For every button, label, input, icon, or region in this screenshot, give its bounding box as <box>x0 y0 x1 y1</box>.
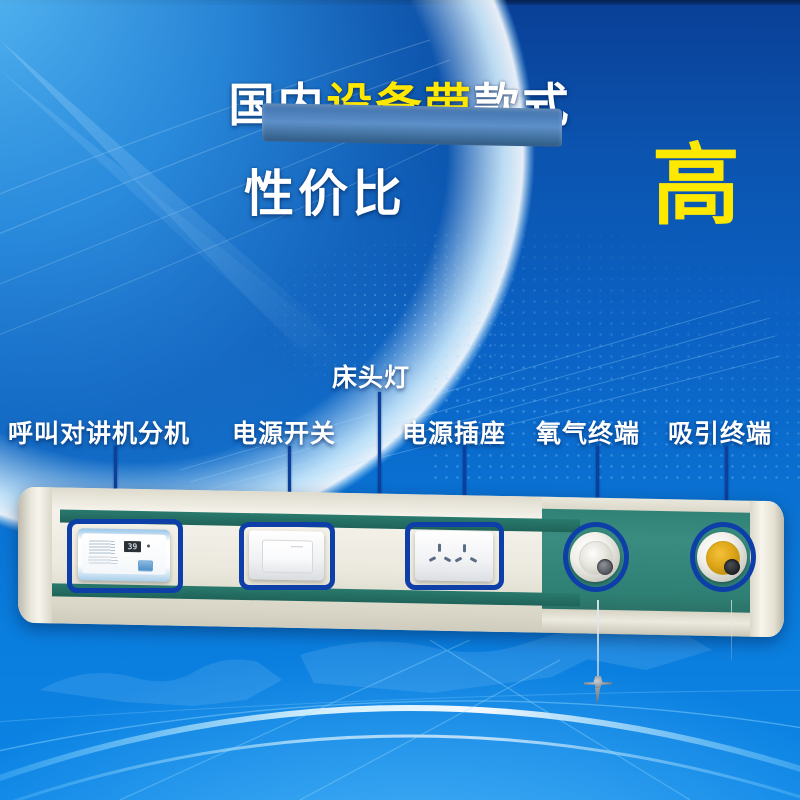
panel-end-cap-left <box>18 487 52 624</box>
rocker-mark-icon <box>291 546 303 547</box>
socket-pin-live-a <box>438 544 441 552</box>
speaker-slots-icon <box>88 556 118 564</box>
intercom-faceplate: 39 <box>82 533 166 575</box>
probe-tip-icon <box>595 688 600 704</box>
headline-emphasis-word: 高 <box>652 142 740 230</box>
socket-pin-angled-1 <box>429 556 437 562</box>
socket-pin-live-b <box>463 544 466 552</box>
oxygen-terminal-ring <box>579 541 613 575</box>
socket-pin-angled-4 <box>470 557 478 563</box>
intercom-display: 39 <box>124 541 141 552</box>
status-led-icon <box>147 544 150 547</box>
promo-banner: 国内设备带款式 性价比 高 呼叫对讲机分机 电源开关 床头灯 电源插座 氧气终端… <box>0 0 800 800</box>
power-socket-plate[interactable] <box>415 530 493 581</box>
intercom-call-button[interactable] <box>138 560 153 571</box>
probe-connector-icon <box>584 676 612 690</box>
callout-label-oxygen-terminal: 氧气终端 <box>536 414 640 450</box>
bed-lamp-light-strip[interactable] <box>262 103 562 147</box>
callout-label-power-switch: 电源开关 <box>232 414 336 450</box>
oxygen-terminal-port-icon <box>597 559 613 575</box>
oxygen-terminal[interactable] <box>570 532 620 582</box>
suction-cable <box>731 600 732 660</box>
panel-teal-bottom-edge <box>542 609 784 638</box>
callout-label-power-socket: 电源插座 <box>402 414 506 450</box>
suction-terminal-port-icon <box>724 559 740 575</box>
power-switch-rocker[interactable] <box>262 540 313 574</box>
suction-terminal[interactable] <box>697 532 747 582</box>
speaker-grille-icon <box>89 540 115 554</box>
socket-pin-angled-3 <box>455 557 463 563</box>
panel-end-cap-right <box>750 501 784 638</box>
power-switch-plate[interactable] <box>249 530 324 580</box>
probe-cable <box>597 600 599 680</box>
callout-label-suction-terminal: 吸引终端 <box>668 414 772 450</box>
suction-terminal-ring <box>706 541 740 575</box>
intercom-unit[interactable]: 39 <box>78 528 170 582</box>
callout-label-bed-lamp: 床头灯 <box>332 358 410 394</box>
socket-pin-angled-2 <box>444 556 452 562</box>
top-edge-bar <box>0 0 800 5</box>
callout-label-intercom: 呼叫对讲机分机 <box>8 414 190 450</box>
